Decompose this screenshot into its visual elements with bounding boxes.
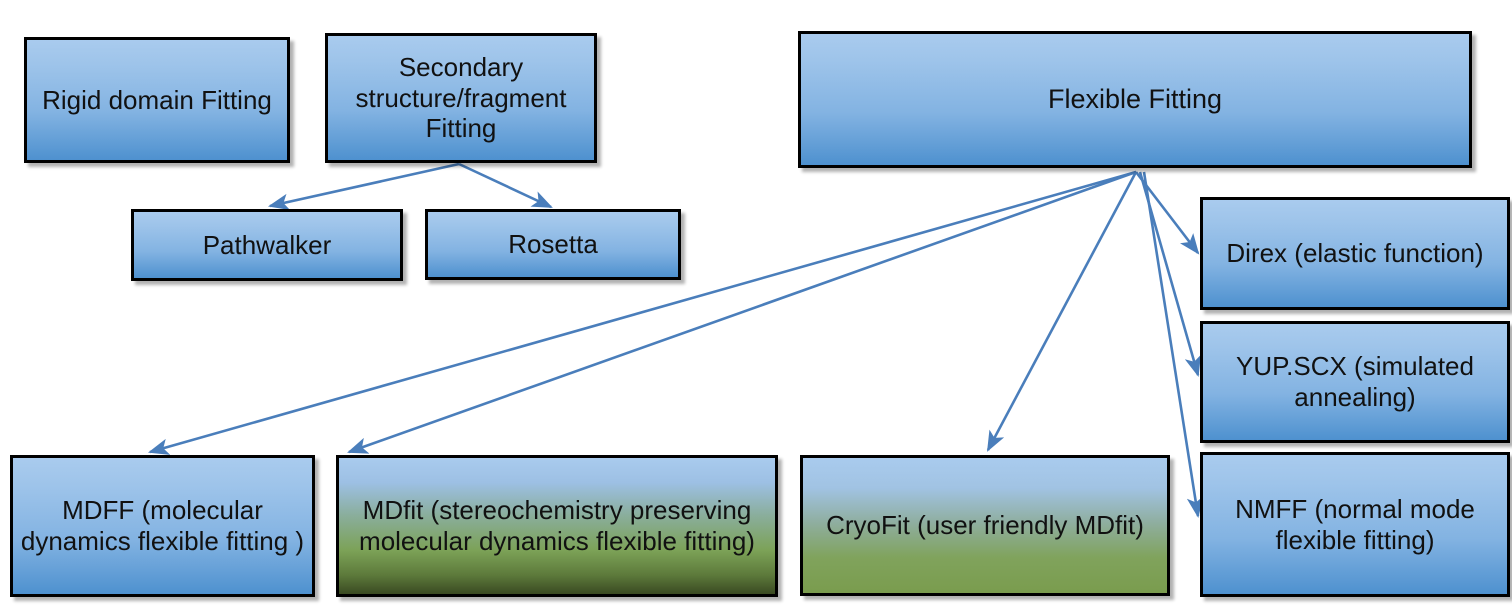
node-label-cryofit: CryoFit (user friendly MDfit) — [809, 510, 1161, 541]
node-mdfit[interactable]: MDfit (stereochemistry preserving molecu… — [336, 455, 778, 597]
node-label-pathwalker: Pathwalker — [140, 230, 394, 261]
node-secondary-structure-fragment-fitting[interactable]: Secondary structure/fragment Fitting — [325, 33, 597, 163]
node-rosetta[interactable]: Rosetta — [425, 209, 681, 280]
node-label-rosetta: Rosetta — [434, 229, 672, 260]
diagram-canvas: Rigid domain FittingSecondary structure/… — [0, 0, 1512, 610]
node-nmff[interactable]: NMFF (normal mode flexible fitting) — [1200, 452, 1510, 597]
node-mdff[interactable]: MDFF (molecular dynamics flexible fittin… — [10, 455, 315, 597]
node-label-nmff: NMFF (normal mode flexible fitting) — [1209, 494, 1501, 555]
node-label-direx: Direx (elastic function) — [1209, 238, 1501, 269]
node-label-mdff: MDFF (molecular dynamics flexible fittin… — [19, 495, 306, 556]
edge-flexible-to-direx — [1136, 172, 1198, 253]
node-cryofit[interactable]: CryoFit (user friendly MDfit) — [800, 455, 1170, 596]
node-label-secondary-structure-fragment-fitting: Secondary structure/fragment Fitting — [334, 52, 588, 144]
node-label-mdfit: MDfit (stereochemistry preserving molecu… — [345, 495, 769, 556]
node-label-yup-scx: YUP.SCX (simulated annealing) — [1209, 351, 1501, 412]
node-yup-scx[interactable]: YUP.SCX (simulated annealing) — [1200, 321, 1510, 443]
edge-secondary-to-rosetta — [459, 164, 551, 207]
node-rigid-domain-fitting[interactable]: Rigid domain Fitting — [24, 37, 290, 163]
node-direx[interactable]: Direx (elastic function) — [1200, 197, 1510, 310]
node-label-flexible-fitting: Flexible Fitting — [807, 84, 1463, 116]
node-pathwalker[interactable]: Pathwalker — [131, 209, 403, 281]
edge-flexible-to-cryofit — [988, 172, 1136, 450]
edge-flexible-to-yupscx — [1140, 172, 1198, 375]
node-flexible-fitting[interactable]: Flexible Fitting — [798, 31, 1472, 168]
node-label-rigid-domain-fitting: Rigid domain Fitting — [33, 85, 281, 116]
edge-secondary-to-pathwalker — [270, 164, 459, 206]
